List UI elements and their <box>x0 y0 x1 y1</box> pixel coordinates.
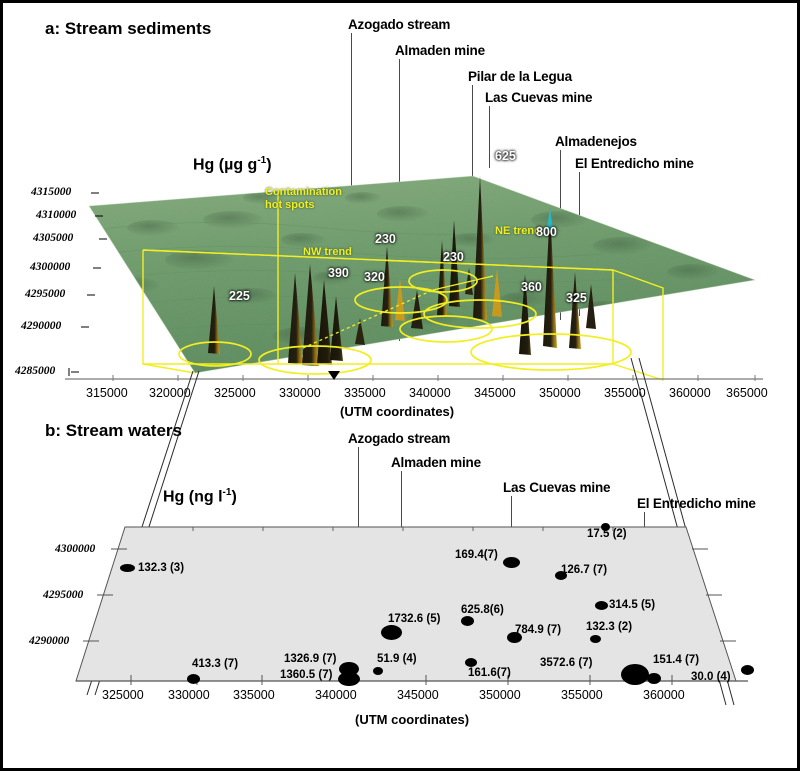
panel-b-title: b: Stream waters <box>45 421 182 441</box>
peak-value-320: 320 <box>364 270 385 284</box>
sample-label-413-3-7: 413.3 (7) <box>192 658 238 670</box>
sample-dot-413-3-7 <box>187 674 200 684</box>
panel-b-ytick-2: 4290000 <box>29 635 69 647</box>
panel-b-xtick-7: 360000 <box>643 688 685 702</box>
sample-dot-1360-5-7 <box>338 672 360 686</box>
panel-a-title: a: Stream sediments <box>45 19 211 39</box>
peak-value-360: 360 <box>521 280 542 294</box>
panel-b-xtick-4: 345000 <box>397 688 439 702</box>
peak-value-390: 390 <box>328 266 349 280</box>
sample-dot-151-4-7 <box>647 673 661 684</box>
callout-las-cuevas-mine-b: Las Cuevas mine <box>503 480 610 495</box>
sample-label-784-9-7: 784.9 (7) <box>515 624 561 636</box>
annotation-hot-spots: hot spots <box>265 199 315 211</box>
sample-label-151-4-7: 151.4 (7) <box>653 654 699 666</box>
panel-b-xtick-2: 335000 <box>233 688 275 702</box>
sample-label-625-8-6: 625.8(6) <box>461 604 504 616</box>
sample-dot-314-5-5 <box>595 601 608 610</box>
callout-azogado-stream-b: Azogado stream <box>348 431 450 446</box>
sample-label-132-3-3: 132.3 (3) <box>138 562 184 574</box>
sample-dot-161-6-7 <box>465 658 477 667</box>
sample-label-169-4-7: 169.4(7) <box>455 549 498 561</box>
callout-las-cuevas-mine-a: Las Cuevas mine <box>485 90 592 105</box>
callout-azogado-stream-a: Azogado stream <box>348 17 450 32</box>
panel-b-xtick-6: 355000 <box>561 688 603 702</box>
panel-b-xtick-5: 350000 <box>479 688 521 702</box>
peak-value-625: 625 <box>495 149 516 163</box>
callout-pilar-de-la-legua-a: Pilar de la Legua <box>468 69 572 84</box>
figure-root: a: Stream sediments Hg (µg g-1) Azogado … <box>0 0 800 771</box>
annotation-nw-trend: NW trend <box>303 246 352 258</box>
sample-label-17-5-2: 17.5 (2) <box>587 528 627 540</box>
sample-dot-625-8-6 <box>461 616 474 626</box>
sample-label-126-7-7: 126.7 (7) <box>561 564 607 576</box>
sample-label-1360-5-7: 1360.5 (7) <box>280 669 332 681</box>
sample-label-132-3-2: 132.3 (2) <box>586 621 632 633</box>
sample-label-30-0-4: 30.0 (4) <box>691 671 731 683</box>
panel-b-x-caption: (UTM coordinates) <box>355 712 469 727</box>
peak-value-225: 225 <box>229 289 250 303</box>
sample-dot-132-3-3 <box>120 564 135 572</box>
panel-b-xtick-1: 330000 <box>168 688 210 702</box>
panel-b-ytick-0: 4300000 <box>55 543 95 555</box>
callout-almadenejos-a: Almadenejos <box>555 134 637 149</box>
leader-line-lascuevas-a <box>489 106 490 168</box>
sample-dot-169-4-7 <box>503 557 520 568</box>
annotation-ne-trend: NE trend <box>495 225 541 237</box>
peak-value-325: 325 <box>566 291 587 305</box>
panel-b-xtick-3: 340000 <box>315 688 357 702</box>
peak-value-800: 800 <box>536 225 557 239</box>
sample-dot-1732-6-5 <box>381 625 402 640</box>
sample-label-1326-9-7: 1326.9 (7) <box>284 653 336 665</box>
sample-label-161-6-7: 161.6(7) <box>468 667 511 679</box>
panel-b-xtick-0: 325000 <box>102 688 144 702</box>
sample-label-314-5-5: 314.5 (5) <box>609 599 655 611</box>
sample-dot-132-3-2 <box>590 635 601 643</box>
peak-value-230-mid: 230 <box>375 232 396 246</box>
sample-dot-3572-6-7 <box>621 664 649 685</box>
annotation-contamination: Contamination <box>265 186 342 198</box>
panel-b-ytick-1: 4295000 <box>43 589 83 601</box>
sample-label-1732-6-5: 1732.6 (5) <box>388 613 440 625</box>
callout-almaden-mine-a: Almaden mine <box>395 43 485 58</box>
sample-label-3572-6-7: 3572.6 (7) <box>540 657 592 669</box>
peak-value-230-ne: 230 <box>443 250 464 264</box>
panel-a-axis-title-sup: -1 <box>257 155 266 166</box>
callout-almaden-mine-b: Almaden mine <box>391 455 481 470</box>
sample-label-51-9-4: 51.9 (4) <box>377 653 417 665</box>
sample-dot-30-0-4 <box>741 665 754 675</box>
sample-dot-51-9-4 <box>373 667 383 675</box>
